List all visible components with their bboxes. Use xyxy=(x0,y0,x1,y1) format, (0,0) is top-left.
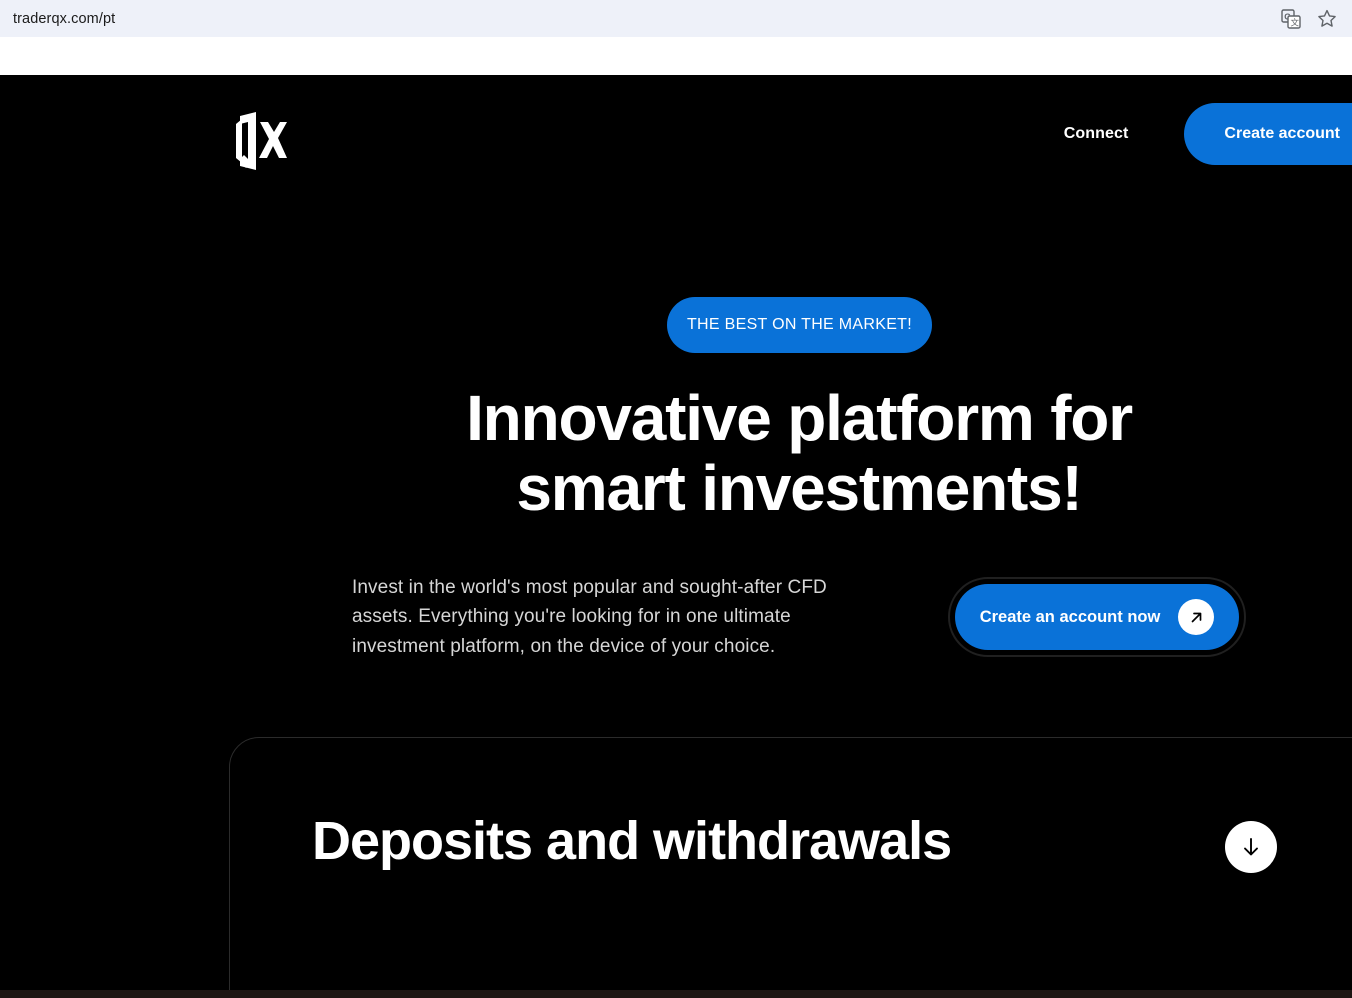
svg-text:文: 文 xyxy=(1291,17,1300,27)
create-account-button-label: Create account xyxy=(1224,125,1340,143)
create-account-button[interactable]: Create account xyxy=(1184,103,1352,165)
browser-toolbar-actions: G 文 xyxy=(1280,8,1338,30)
browser-toolbar: traderqx.com/pt G 文 xyxy=(0,0,1352,37)
create-an-account-now-label: Create an account now xyxy=(980,608,1161,627)
hero-title: Innovative platform for smart investment… xyxy=(226,383,1352,524)
qx-logo-icon[interactable] xyxy=(230,110,288,172)
translate-icon[interactable]: G 文 xyxy=(1280,8,1302,30)
address-bar-url[interactable]: traderqx.com/pt xyxy=(13,11,115,27)
deposits-and-withdrawals-card: Deposits and withdrawals xyxy=(229,737,1352,990)
page-bottom-edge xyxy=(0,990,1352,998)
arrow-down-icon[interactable] xyxy=(1225,821,1277,873)
arrow-up-right-icon xyxy=(1178,599,1214,635)
card-title: Deposits and withdrawals xyxy=(312,810,951,872)
bookmark-star-icon[interactable] xyxy=(1316,8,1338,30)
header-nav: Connect Create account xyxy=(1064,103,1352,165)
page-content: Connect Create account THE BEST ON THE M… xyxy=(0,75,1352,990)
hero-badge[interactable]: THE BEST ON THE MARKET! xyxy=(667,297,932,353)
hero-cta-focus-ring: Create an account now xyxy=(948,577,1246,657)
site-header: Connect Create account xyxy=(0,75,1352,205)
hero-title-line-1: Innovative platform for xyxy=(466,382,1132,454)
browser-content-top-strip xyxy=(0,37,1352,75)
connect-link[interactable]: Connect xyxy=(1064,125,1129,143)
hero-subtitle: Invest in the world's most popular and s… xyxy=(352,573,882,661)
hero-title-line-2: smart investments! xyxy=(516,452,1081,524)
create-an-account-now-button[interactable]: Create an account now xyxy=(955,584,1239,650)
